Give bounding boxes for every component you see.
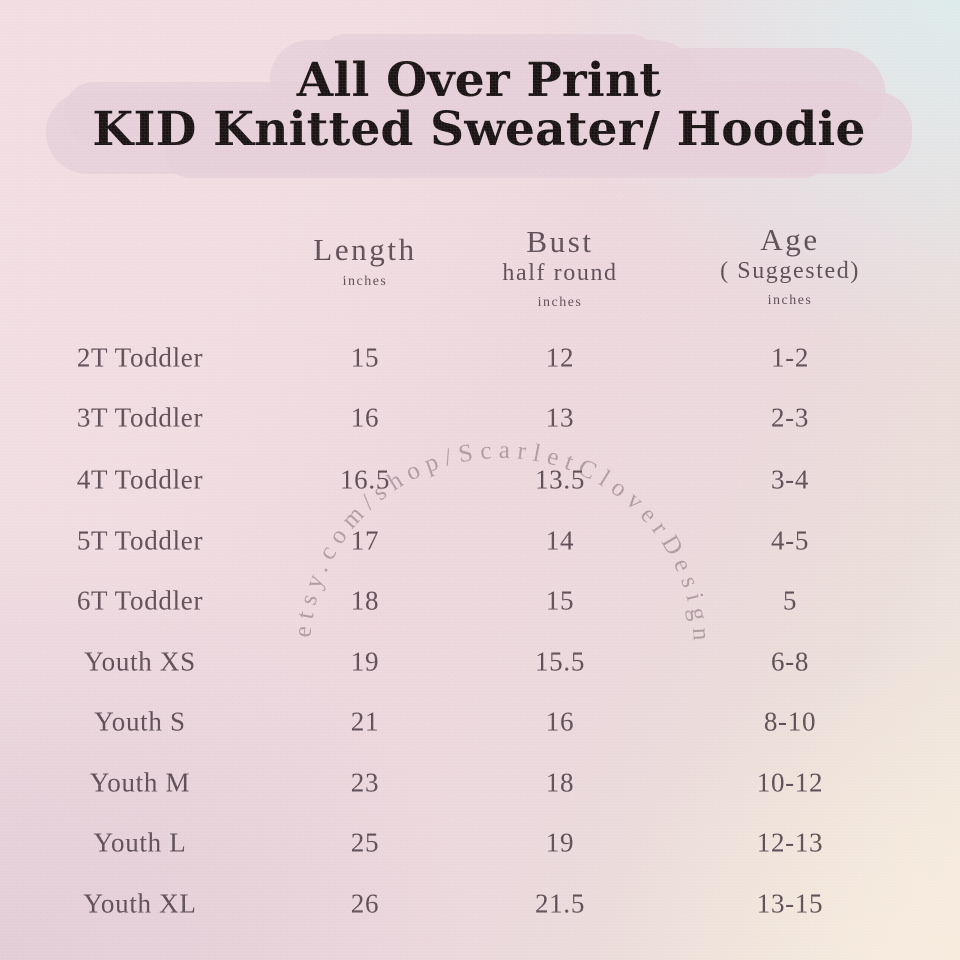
cell-length: 25: [351, 828, 379, 859]
cell-length: 21: [351, 707, 379, 738]
cell-age: 10-12: [757, 768, 824, 799]
column-header-unit: inches: [720, 293, 860, 309]
row-size-label: Youth S: [94, 707, 185, 738]
size-table: LengthinchesBusthalf roundinchesAge( Sug…: [0, 0, 960, 960]
cell-bust: 18: [546, 768, 574, 799]
cell-age: 4-5: [771, 526, 809, 557]
cell-bust: 19: [546, 828, 574, 859]
cell-length: 17: [351, 526, 379, 557]
cell-bust: 15: [546, 586, 574, 617]
cell-length: 16.5: [340, 465, 390, 496]
cell-age: 6-8: [771, 647, 809, 678]
cell-bust: 15.5: [535, 647, 585, 678]
row-size-label: 6T Toddler: [77, 586, 203, 617]
cell-age: 3-4: [771, 465, 809, 496]
cell-age: 5: [783, 586, 797, 617]
size-chart-root: All Over Print KID Knitted Sweater/ Hood…: [0, 0, 960, 960]
row-size-label: Youth L: [94, 828, 187, 859]
cell-length: 19: [351, 647, 379, 678]
column-header-subtitle: half round: [502, 259, 617, 288]
cell-length: 18: [351, 586, 379, 617]
cell-bust: 21.5: [535, 889, 585, 920]
column-header-title: Length: [313, 232, 416, 267]
column-header-bust: Busthalf roundinches: [502, 224, 617, 311]
cell-bust: 14: [546, 526, 574, 557]
cell-bust: 12: [546, 343, 574, 374]
cell-age: 1-2: [771, 343, 809, 374]
cell-bust: 13: [546, 403, 574, 434]
row-size-label: 3T Toddler: [77, 403, 203, 434]
row-size-label: 4T Toddler: [77, 465, 203, 496]
cell-age: 8-10: [764, 707, 816, 738]
column-header-unit: inches: [313, 274, 416, 290]
cell-length: 26: [351, 889, 379, 920]
row-size-label: Youth M: [90, 768, 190, 799]
column-header-length: Lengthinches: [313, 232, 416, 290]
row-size-label: Youth XL: [83, 889, 196, 920]
row-size-label: Youth XS: [84, 647, 196, 678]
cell-age: 12-13: [757, 828, 824, 859]
cell-bust: 13.5: [535, 465, 585, 496]
cell-age: 13-15: [757, 889, 824, 920]
row-size-label: 2T Toddler: [77, 343, 203, 374]
column-header-age: Age( Suggested)inches: [720, 222, 860, 309]
cell-length: 15: [351, 343, 379, 374]
row-size-label: 5T Toddler: [77, 526, 203, 557]
cell-length: 23: [351, 768, 379, 799]
cell-bust: 16: [546, 707, 574, 738]
cell-length: 16: [351, 403, 379, 434]
column-header-title: Age: [720, 222, 860, 257]
cell-age: 2-3: [771, 403, 809, 434]
column-header-subtitle: ( Suggested): [720, 257, 860, 286]
column-header-title: Bust: [502, 224, 617, 259]
column-header-unit: inches: [502, 295, 617, 311]
